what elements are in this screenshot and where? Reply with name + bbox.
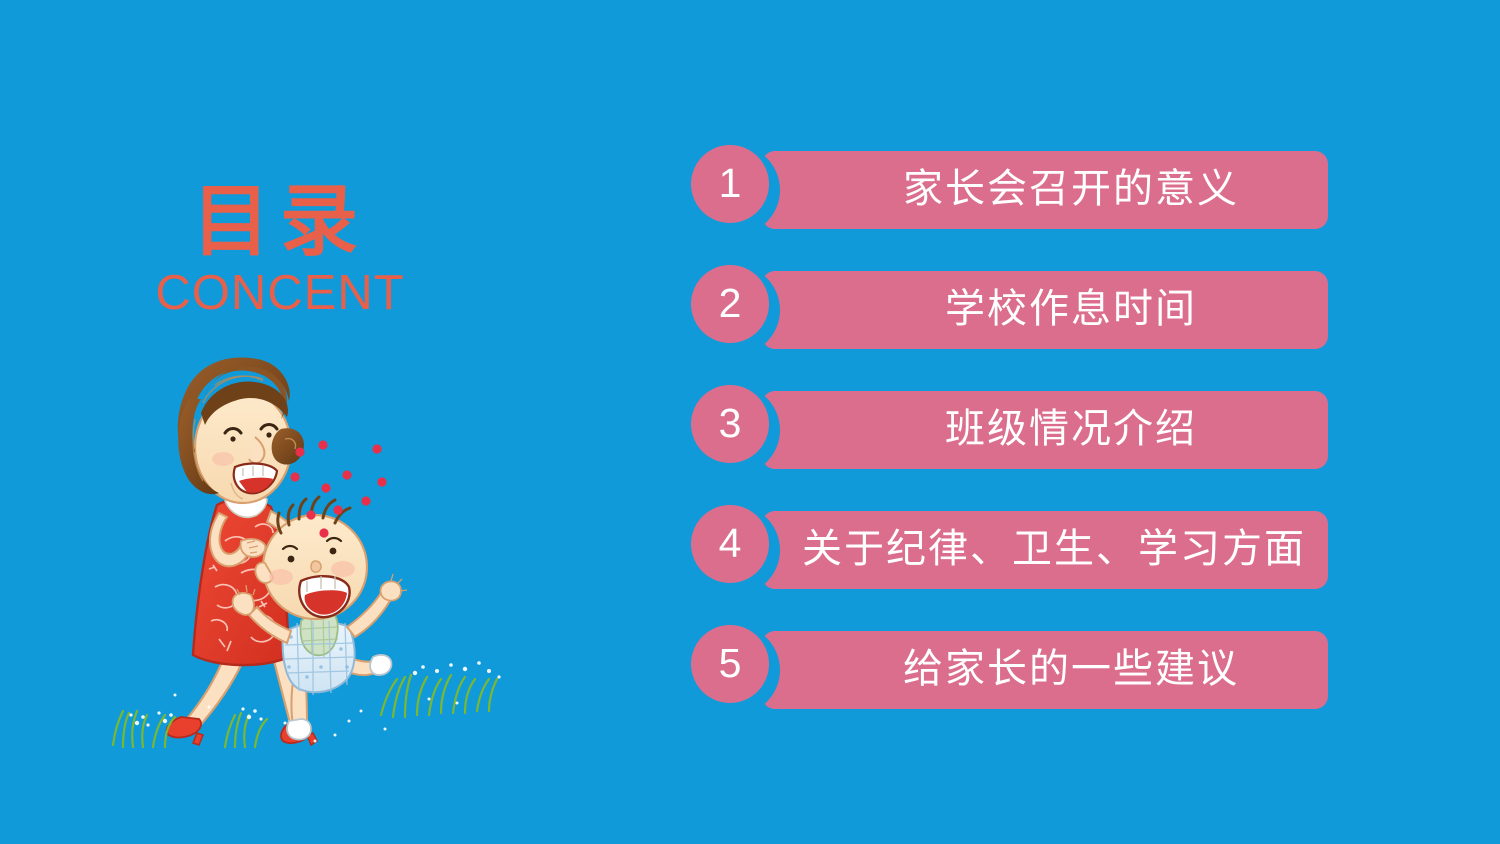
toc-bar[interactable]: 学校作息时间 — [762, 271, 1328, 349]
toc-number-ring: 2 — [690, 265, 780, 355]
table-of-contents: 家长会召开的意义 1 学校作息时间 2 班级情况介绍 — [695, 151, 1335, 751]
toc-item-label: 家长会召开的意义 — [851, 166, 1239, 215]
toc-bar[interactable]: 班级情况介绍 — [762, 391, 1328, 469]
toc-number-circle[interactable]: 1 — [691, 145, 769, 223]
toc-item-3[interactable]: 班级情况介绍 3 — [695, 391, 1330, 469]
toc-item-label: 关于纪律、卫生、学习方面 — [784, 526, 1306, 575]
toc-item-label: 班级情况介绍 — [893, 406, 1197, 455]
left-panel: 目录 CONCENT — [0, 0, 640, 844]
toc-bar[interactable]: 关于纪律、卫生、学习方面 — [762, 511, 1328, 589]
toc-item-5[interactable]: 给家长的一些建议 5 — [695, 631, 1330, 709]
page-title-cn: 目录 — [0, 178, 560, 266]
toc-item-number: 2 — [719, 281, 742, 328]
toc-bar[interactable]: 给家长的一些建议 — [762, 631, 1328, 709]
toc-item-4[interactable]: 关于纪律、卫生、学习方面 4 — [695, 511, 1330, 589]
toc-item-label: 给家长的一些建议 — [851, 646, 1239, 695]
heading-block: 目录 CONCENT — [0, 178, 560, 320]
toc-item-2[interactable]: 学校作息时间 2 — [695, 271, 1330, 349]
toc-item-number: 4 — [719, 521, 742, 568]
toc-item-1[interactable]: 家长会召开的意义 1 — [695, 151, 1330, 229]
toc-bar[interactable]: 家长会召开的意义 — [762, 151, 1328, 229]
toc-number-circle[interactable]: 2 — [691, 265, 769, 343]
page-title-en: CONCENT — [0, 266, 560, 320]
toc-number-ring: 1 — [690, 145, 780, 235]
presentation-slide: 目录 CONCENT — [0, 0, 1500, 844]
toc-number-ring: 3 — [690, 385, 780, 475]
toc-number-circle[interactable]: 3 — [691, 385, 769, 463]
mother-and-child-illustration — [85, 355, 555, 755]
toc-number-circle[interactable]: 5 — [691, 625, 769, 703]
toc-number-circle[interactable]: 4 — [691, 505, 769, 583]
toc-item-number: 3 — [719, 401, 742, 448]
toc-item-number: 1 — [719, 161, 742, 208]
toc-number-ring: 5 — [690, 625, 780, 715]
toc-item-number: 5 — [719, 641, 742, 688]
toc-item-label: 学校作息时间 — [893, 286, 1197, 335]
toc-number-ring: 4 — [690, 505, 780, 595]
